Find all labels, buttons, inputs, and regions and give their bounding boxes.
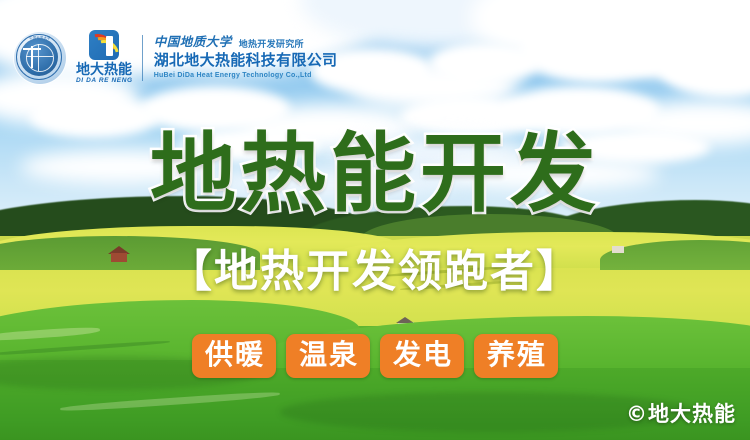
hero-subtitle: 【地热开发领跑者】: [0, 246, 750, 298]
header-divider: [142, 35, 143, 81]
seal-hammer-icon: [31, 46, 33, 68]
dida-logo[interactable]: 地大热能 DI DA RE NENG: [76, 30, 133, 85]
company-name-cn: 湖北地大热能科技有限公司: [154, 53, 338, 68]
logo-white-bar: [106, 36, 113, 56]
geothermal-promo-banner: 中国地质大学 地大热能 DI DA RE NENG 中国地质大学 地热开发研究所…: [0, 0, 750, 440]
organization-row-1: 中国地质大学 地热开发研究所: [154, 36, 338, 49]
service-tag-powergen[interactable]: 发电: [380, 334, 464, 378]
brand-header[interactable]: 中国地质大学 地大热能 DI DA RE NENG 中国地质大学 地热开发研究所…: [14, 30, 337, 85]
university-seal-icon: 中国地质大学: [14, 32, 66, 84]
company-name-en: HuBei DiDa Heat Energy Technology Co.,Lt…: [154, 72, 338, 79]
service-tag-aquaculture[interactable]: 养殖: [474, 334, 558, 378]
service-tag-hotspring[interactable]: 温泉: [286, 334, 370, 378]
cloud: [430, 42, 540, 84]
organization-text: 中国地质大学 地热开发研究所 湖北地大热能科技有限公司 HuBei DiDa H…: [154, 36, 338, 79]
seal-caption: 中国地质大学: [14, 35, 66, 40]
copyright-watermark: ©地大热能: [626, 398, 736, 428]
university-name: 中国地质大学: [154, 36, 232, 49]
tree: [60, 292, 94, 340]
hero-title: 地热能开发: [0, 128, 750, 220]
logo-chinese-name: 地大热能: [76, 62, 133, 77]
service-tag-heating[interactable]: 供暖: [192, 334, 276, 378]
institute-name: 地热开发研究所: [239, 40, 304, 49]
logo-pinyin: DI DA RE NENG: [76, 77, 133, 85]
service-tag-list: 供暖 温泉 发电 养殖: [0, 334, 750, 378]
rainbow-square-icon: [89, 30, 119, 60]
